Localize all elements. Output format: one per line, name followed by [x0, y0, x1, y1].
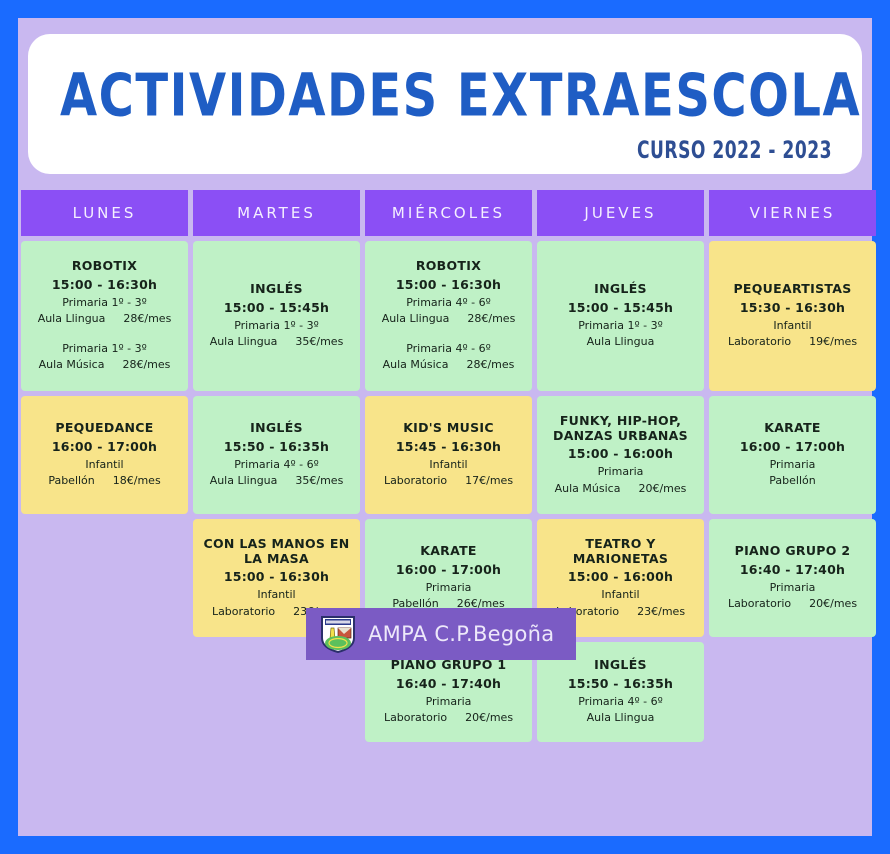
day-header-3: MIÉRCOLES — [365, 190, 532, 236]
poster-canvas: ACTIVIDADES EXTRAESCOLARES CURSO 2022 - … — [18, 18, 872, 836]
activity-cell[interactable]: ROBOTIX15:00 - 16:30hPrimaria 1º - 3ºAul… — [21, 241, 188, 391]
activity-price: 18€/mes — [113, 473, 161, 490]
activity-title: INGLÉS — [543, 281, 698, 296]
activity-level-secondary: Primaria 4º - 6º — [371, 341, 526, 358]
activity-time: 15:50 - 16:35h — [543, 676, 698, 691]
activity-location: Aula Llingua — [38, 311, 106, 328]
schedule-grid: LUNESMARTESMIÉRCOLESJUEVESVIERNES ROBOTI… — [18, 190, 872, 747]
activity-level: Primaria — [715, 457, 870, 474]
activity-location-price-secondary: Aula Música28€/mes — [371, 357, 526, 374]
activity-location-price: Aula Llingua — [543, 334, 698, 351]
activity-price: 28€/mes — [123, 311, 171, 328]
activity-cell[interactable]: PEQUEDANCE16:00 - 17:00hInfantilPabellón… — [21, 396, 188, 514]
activity-level-secondary: Primaria 1º - 3º — [27, 341, 182, 358]
activity-level: Primaria 1º - 3º — [27, 295, 182, 312]
activity-price: 19€/mes — [809, 334, 857, 351]
activity-location: Aula Llingua — [210, 473, 278, 490]
day-header-4: JUEVES — [537, 190, 704, 236]
day-header-1: LUNES — [21, 190, 188, 236]
title-card: ACTIVIDADES EXTRAESCOLARES CURSO 2022 - … — [28, 34, 862, 174]
activity-price: 17€/mes — [465, 473, 513, 490]
activity-time: 15:30 - 16:30h — [715, 300, 870, 315]
activity-location-price-secondary: Aula Música28€/mes — [27, 357, 182, 374]
activity-location-price: Aula Llingua35€/mes — [199, 473, 354, 490]
activity-title: KARATE — [715, 420, 870, 435]
activity-title: KARATE — [371, 543, 526, 558]
activity-price: 20€/mes — [809, 596, 857, 613]
activity-cell[interactable]: PEQUEARTISTAS15:30 - 16:30hInfantilLabor… — [709, 241, 876, 391]
activity-level: Primaria — [543, 464, 698, 481]
activity-time: 15:45 - 16:30h — [371, 439, 526, 454]
schedule-row: ROBOTIX15:00 - 16:30hPrimaria 1º - 3ºAul… — [18, 241, 872, 391]
activity-price: 20€/mes — [465, 710, 513, 727]
activity-title: INGLÉS — [199, 420, 354, 435]
schedule-body: ROBOTIX15:00 - 16:30hPrimaria 1º - 3ºAul… — [18, 241, 872, 742]
activity-location-secondary: Aula Música — [383, 357, 449, 374]
activity-cell-empty — [709, 642, 876, 742]
course-year-label: CURSO 2022 - 2023 — [637, 137, 832, 165]
activity-location: Aula Llingua — [382, 311, 450, 328]
activity-location: Aula Música — [555, 481, 621, 498]
activity-title: CON LAS MANOS EN LA MASA — [199, 536, 354, 567]
activity-location: Aula Llingua — [587, 710, 655, 727]
activity-location-price: Aula Llingua28€/mes — [371, 311, 526, 328]
activity-cell[interactable]: INGLÉS15:00 - 15:45hPrimaria 1º - 3ºAula… — [537, 241, 704, 391]
activity-location: Laboratorio — [212, 604, 275, 621]
school-shield-logo-icon — [320, 614, 356, 654]
activity-location-price: Aula Música20€/mes — [543, 481, 698, 498]
activity-time: 16:00 - 17:00h — [715, 439, 870, 454]
activity-level: Primaria 1º - 3º — [543, 318, 698, 335]
activity-divider — [27, 328, 182, 341]
activity-time: 15:00 - 16:00h — [543, 446, 698, 461]
activity-time: 16:40 - 17:40h — [371, 676, 526, 691]
activity-cell[interactable]: INGLÉS15:00 - 15:45hPrimaria 1º - 3ºAula… — [193, 241, 360, 391]
activity-location: Pabellón — [769, 473, 815, 490]
activity-price: 35€/mes — [295, 334, 343, 351]
activity-location: Pabellón — [48, 473, 94, 490]
activity-price: 20€/mes — [638, 481, 686, 498]
activity-price-secondary: 28€/mes — [466, 357, 514, 374]
activity-cell[interactable]: FUNKY, HIP-HOP, DANZAS URBANAS15:00 - 16… — [537, 396, 704, 514]
activity-level: Infantil — [715, 318, 870, 335]
activity-cell[interactable]: ROBOTIX15:00 - 16:30hPrimaria 4º - 6ºAul… — [365, 241, 532, 391]
activity-level: Infantil — [543, 587, 698, 604]
activity-title: TEATRO Y MARIONETAS — [543, 536, 698, 567]
ampa-label: AMPA C.P.Begoña — [368, 622, 554, 646]
activity-title: PEQUEDANCE — [27, 420, 182, 435]
activity-location-price: Pabellón18€/mes — [27, 473, 182, 490]
activity-location-price: Laboratorio19€/mes — [715, 334, 870, 351]
activity-cell-empty — [21, 642, 188, 742]
activity-price: 28€/mes — [467, 311, 515, 328]
activity-time: 15:00 - 15:45h — [199, 300, 354, 315]
activity-cell[interactable]: KARATE16:00 - 17:00hPrimariaPabellón — [709, 396, 876, 514]
activity-level: Primaria — [371, 580, 526, 597]
activity-location-price: Laboratorio20€/mes — [371, 710, 526, 727]
activity-time: 16:00 - 17:00h — [27, 439, 182, 454]
schedule-row: PEQUEDANCE16:00 - 17:00hInfantilPabellón… — [18, 396, 872, 514]
ampa-footer-bar: AMPA C.P.Begoña — [306, 608, 576, 660]
activity-location: Aula Llingua — [210, 334, 278, 351]
activity-location-price: Aula Llingua35€/mes — [199, 334, 354, 351]
activity-level: Infantil — [27, 457, 182, 474]
activity-title: INGLÉS — [199, 281, 354, 296]
activity-location-price: Pabellón — [715, 473, 870, 490]
activity-time: 16:40 - 17:40h — [715, 562, 870, 577]
activity-time: 15:00 - 16:30h — [27, 277, 182, 292]
activity-level: Primaria — [371, 694, 526, 711]
activity-location-secondary: Aula Música — [39, 357, 105, 374]
activity-title: KID'S MUSIC — [371, 420, 526, 435]
activity-title: PIANO GRUPO 2 — [715, 543, 870, 558]
activity-location: Aula Llingua — [587, 334, 655, 351]
activity-level: Primaria — [715, 580, 870, 597]
day-header-2: MARTES — [193, 190, 360, 236]
activity-cell[interactable]: INGLÉS15:50 - 16:35hPrimaria 4º - 6ºAula… — [193, 396, 360, 514]
activity-title: ROBOTIX — [27, 258, 182, 273]
activity-location: Laboratorio — [728, 596, 791, 613]
activity-location-price: Laboratorio17€/mes — [371, 473, 526, 490]
activity-price: 23€/mes — [637, 604, 685, 621]
page-title: ACTIVIDADES EXTRAESCOLARES — [60, 62, 862, 130]
activity-level: Primaria 4º - 6º — [543, 694, 698, 711]
activity-cell[interactable]: KID'S MUSIC15:45 - 16:30hInfantilLaborat… — [365, 396, 532, 514]
activity-title: ROBOTIX — [371, 258, 526, 273]
activity-time: 15:50 - 16:35h — [199, 439, 354, 454]
activity-location-price: Aula Llingua28€/mes — [27, 311, 182, 328]
activity-level: Primaria 1º - 3º — [199, 318, 354, 335]
activity-price-secondary: 28€/mes — [122, 357, 170, 374]
day-header-row: LUNESMARTESMIÉRCOLESJUEVESVIERNES — [18, 190, 872, 236]
activity-price: 35€/mes — [295, 473, 343, 490]
activity-level: Primaria 4º - 6º — [199, 457, 354, 474]
activity-time: 15:00 - 16:30h — [371, 277, 526, 292]
activity-location: Laboratorio — [384, 710, 447, 727]
activity-cell-empty — [21, 519, 188, 637]
activity-level: Infantil — [199, 587, 354, 604]
activity-time: 15:00 - 16:30h — [199, 569, 354, 584]
activity-time: 15:00 - 15:45h — [543, 300, 698, 315]
activity-level: Primaria 4º - 6º — [371, 295, 526, 312]
activity-title: FUNKY, HIP-HOP, DANZAS URBANAS — [543, 413, 698, 444]
activity-divider — [371, 328, 526, 341]
activity-cell[interactable]: PIANO GRUPO 216:40 - 17:40hPrimariaLabor… — [709, 519, 876, 637]
activity-location: Laboratorio — [384, 473, 447, 490]
activity-level: Infantil — [371, 457, 526, 474]
activity-location-price: Aula Llingua — [543, 710, 698, 727]
activity-time: 16:00 - 17:00h — [371, 562, 526, 577]
activity-location-price: Laboratorio20€/mes — [715, 596, 870, 613]
activity-title: PEQUEARTISTAS — [715, 281, 870, 296]
day-header-5: VIERNES — [709, 190, 876, 236]
activity-time: 15:00 - 16:00h — [543, 569, 698, 584]
activity-location: Laboratorio — [728, 334, 791, 351]
